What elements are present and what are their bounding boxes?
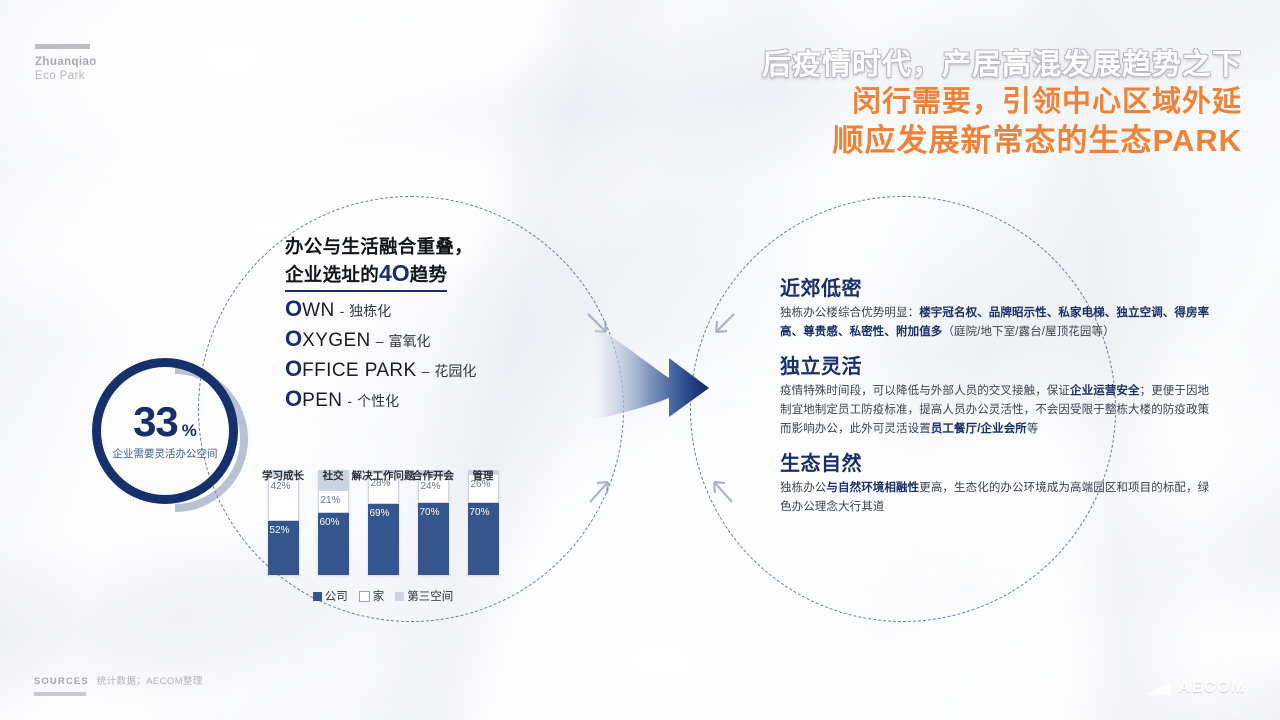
bar-category-label: 管理 — [473, 470, 494, 482]
donut-value: 33 — [133, 401, 178, 443]
left-title-suffix: 趋势 — [410, 264, 448, 285]
o-cn-label: 富氧化 — [388, 331, 430, 351]
o-dash: - — [347, 393, 352, 409]
bar-segment-公司: 60% — [318, 513, 349, 575]
logo-name-line2: Eco Park — [35, 69, 97, 83]
sources-value: 统计数据；AECOM整理 — [97, 673, 203, 687]
donut-caption: 企业需要灵活办公空间 — [109, 448, 221, 461]
legend-swatch-icon — [359, 591, 370, 602]
bar-segment-公司: 70% — [418, 503, 449, 575]
aecom-wordmark: AECOM — [1178, 679, 1246, 697]
slide-canvas: Zhuanqiao Eco Park 后疫情时代，产居高混发展趋势之下 闵行需要… — [0, 0, 1280, 720]
right-section-body: 疫情特殊时间段，可以降低与外部人员的交叉接触，保证企业运营安全；更便于因地制宜地… — [780, 382, 1212, 438]
o-lead-letter: O — [285, 298, 302, 320]
o-cn-label: 独栋化 — [349, 301, 391, 321]
legend-item-第三空间[interactable]: 第三空间 — [395, 588, 453, 604]
stacked-bar: 21%60% — [318, 470, 349, 575]
o-word: PEN — [302, 390, 342, 412]
right-section-1: 近郊低密 独栋办公楼综合优势明显：楼宇冠名权、品牌昭示性、私家电梯、独立空调、得… — [780, 272, 1212, 341]
o-dash: – — [422, 363, 430, 379]
right-section-body: 独栋办公与自然环境相融性更高，生态化的办公环境成为高端园区和项目的标配，绿色办公… — [780, 479, 1212, 516]
percent-sign-icon: % — [182, 421, 197, 441]
right-section-heading: 独立灵活 — [780, 350, 1212, 379]
stat-donut-33: 33 % 企业需要灵活办公空间 — [92, 358, 238, 504]
headline-line-2: 闵行需要，引领中心区域外延 — [762, 84, 1242, 121]
o-dash: – — [376, 333, 384, 349]
o-cn-label: 个性化 — [357, 391, 399, 411]
o-word: WN — [302, 300, 334, 322]
bar-category-label: 合作开会 — [412, 470, 454, 482]
legend-label: 家 — [373, 588, 385, 604]
bar-value-label: 21% — [319, 495, 341, 506]
bar-segment-家: 42% — [268, 476, 299, 521]
bar-value-label: 69% — [368, 508, 390, 519]
logo-name-line1: Zhuanqiao — [35, 55, 97, 69]
left-content-block: 办公与生活融合重叠， 企业选址的4O趋势 O WN - 独栋化 O XYGEN … — [285, 235, 535, 412]
stacked-bar: 42%52% — [268, 470, 299, 575]
stacked-bar: 26%70% — [468, 470, 499, 575]
bar-column: 学习成长42%52% — [258, 470, 308, 575]
o-lead-letter: O — [285, 388, 302, 410]
bar-category-label: 学习成长 — [262, 470, 304, 482]
aecom-logo: AECOM — [1145, 679, 1246, 697]
bar-column: 合作开会24%70% — [408, 470, 458, 575]
chart-legend: 公司家第三空间 — [258, 588, 508, 604]
o-item-oxygen: O XYGEN – 富氧化 — [285, 328, 535, 352]
bar-column: 管理26%70% — [458, 470, 508, 575]
left-title-prefix: 企业选址的 — [285, 264, 379, 285]
left-title-line1: 办公与生活融合重叠， — [285, 235, 535, 259]
stacked-bar: 24%70% — [418, 470, 449, 575]
o-item-office-park: O FFICE PARK – 花园化 — [285, 358, 535, 382]
bar-segment-家: 21% — [318, 490, 349, 514]
brand-logo: Zhuanqiao Eco Park — [35, 44, 97, 84]
right-section-body: 独栋办公楼综合优势明显：楼宇冠名权、品牌昭示性、私家电梯、独立空调、得房率高、尊… — [780, 304, 1212, 341]
bar-value-label: 60% — [318, 517, 340, 528]
bar-segment-公司: 52% — [268, 521, 299, 575]
right-section-heading: 生态自然 — [780, 447, 1212, 476]
sources-row: SOURCES 统计数据；AECOM整理 — [34, 673, 203, 687]
bar-value-label: 70% — [418, 507, 440, 518]
right-section-heading: 近郊低密 — [780, 272, 1212, 301]
logo-rule — [35, 44, 90, 49]
aecom-mark-icon — [1145, 682, 1171, 695]
headline-line-1: 后疫情时代，产居高混发展趋势之下 — [762, 47, 1242, 84]
donut-content: 33 % 企业需要灵活办公空间 — [92, 358, 238, 504]
o-item-own: O WN - 独栋化 — [285, 298, 535, 322]
bar-column: 社交21%60% — [308, 470, 358, 575]
sources-label: SOURCES — [34, 676, 89, 687]
o-item-open: O PEN - 个性化 — [285, 388, 535, 412]
headline-block: 后疫情时代，产居高混发展趋势之下 闵行需要，引领中心区域外延 顺应发展新常态的生… — [762, 47, 1242, 161]
legend-label: 公司 — [325, 588, 348, 604]
legend-swatch-icon — [395, 592, 404, 601]
headline-line-3: 顺应发展新常态的生态PARK — [762, 121, 1242, 161]
funnel-arrow-icon — [583, 318, 713, 423]
bar-column: 解决工作问题28%69% — [358, 470, 408, 575]
bar-value-label: 70% — [468, 507, 490, 518]
o-dash: - — [340, 303, 345, 319]
o-cn-label: 花园化 — [434, 361, 476, 381]
right-section-3: 生态自然 独栋办公与自然环境相融性更高，生态化的办公环境成为高端园区和项目的标配… — [780, 447, 1212, 516]
legend-item-家[interactable]: 家 — [359, 588, 385, 604]
stacked-bar: 28%69% — [368, 470, 399, 575]
o-word: XYGEN — [302, 330, 371, 352]
left-title-accent-4o: 4O — [379, 260, 410, 286]
o-lead-letter: O — [285, 358, 302, 380]
left-title-line2: 企业选址的4O趋势 — [285, 259, 447, 292]
bar-segment-公司: 69% — [368, 504, 399, 575]
bar-category-label: 社交 — [323, 470, 344, 482]
stacked-bar-chart: 学习成长42%52%社交21%60%解决工作问题28%69%合作开会24%70%… — [258, 430, 508, 610]
bar-segment-公司: 70% — [468, 503, 499, 575]
right-content-block: 近郊低密 独栋办公楼综合优势明显：楼宇冠名权、品牌昭示性、私家电梯、独立空调、得… — [780, 272, 1212, 525]
sources-rule — [34, 692, 86, 696]
dashed-arrowhead-bottom-right — [700, 470, 740, 504]
donut-value-row: 33 % — [133, 401, 197, 443]
bar-category-label: 解决工作问题 — [352, 470, 415, 482]
sources-note: SOURCES 统计数据；AECOM整理 — [34, 673, 203, 696]
legend-label: 第三空间 — [407, 588, 453, 604]
bar-value-label: 42% — [269, 481, 291, 492]
legend-swatch-icon — [313, 592, 322, 601]
o-lead-letter: O — [285, 328, 302, 350]
bar-value-label: 52% — [268, 525, 290, 536]
chart-plot-area: 学习成长42%52%社交21%60%解决工作问题28%69%合作开会24%70%… — [258, 470, 508, 575]
dashed-arrowhead-bottom-left — [586, 470, 626, 504]
right-section-2: 独立灵活 疫情特殊时间段，可以降低与外部人员的交叉接触，保证企业运营安全；更便于… — [780, 350, 1212, 438]
legend-item-公司[interactable]: 公司 — [313, 588, 348, 604]
bar-value-label: 24% — [419, 481, 441, 492]
o-word: FFICE PARK — [302, 360, 417, 382]
